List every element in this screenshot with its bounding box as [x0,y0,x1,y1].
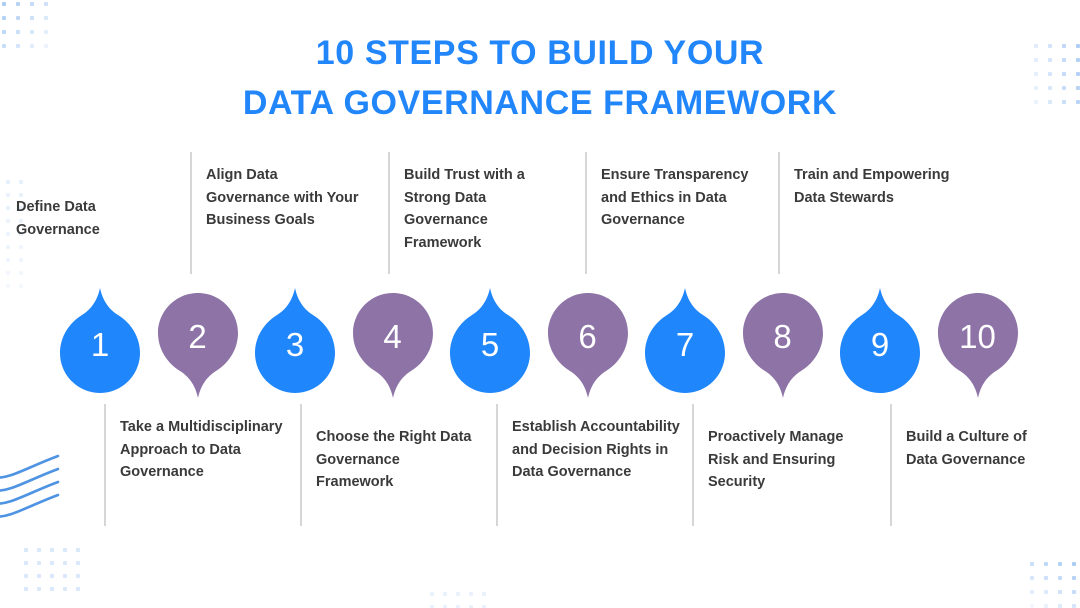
dot-grid-decoration-bottom-left [24,548,84,594]
step-label-1: Define Data Governance [16,196,166,241]
step-number-8: 8 [741,320,825,353]
step-label-6: Establish Accountability and Decision Ri… [496,416,681,484]
step-marker-4[interactable]: 4 [351,290,435,400]
step-label-8: Proactively Manage Risk and Ensuring Sec… [692,426,867,494]
step-label-5: Build Trust with a Strong Data Governanc… [388,164,563,254]
step-number-6: 6 [546,320,630,353]
infographic-canvas: 10 STEPS TO BUILD YOUR DATA GOVERNANCE F… [0,0,1080,608]
page-title: 10 STEPS TO BUILD YOUR DATA GOVERNANCE F… [0,28,1080,128]
step-number-5: 5 [448,328,532,361]
step-marker-10[interactable]: 10 [936,290,1020,400]
step-label-10: Build a Culture of Data Governance [890,426,1050,471]
step-marker-5[interactable]: 5 [448,286,532,396]
step-number-9: 9 [838,328,922,361]
step-marker-2[interactable]: 2 [156,290,240,400]
step-marker-9[interactable]: 9 [838,286,922,396]
step-marker-1[interactable]: 1 [58,286,142,396]
title-line-2: DATA GOVERNANCE FRAMEWORK [0,78,1080,128]
step-number-7: 7 [643,328,727,361]
step-label-7: Ensure Transparency and Ethics in Data G… [585,164,765,232]
step-marker-6[interactable]: 6 [546,290,630,400]
bottom-label-row: Take a Multidisciplinary Approach to Dat… [0,404,1080,530]
step-number-2: 2 [156,320,240,353]
step-marker-7[interactable]: 7 [643,286,727,396]
dot-grid-decoration-bottom-center [430,592,490,608]
step-marker-row: 12345678910 [0,286,1080,402]
title-line-1: 10 STEPS TO BUILD YOUR [0,28,1080,78]
step-number-3: 3 [253,328,337,361]
step-number-4: 4 [351,320,435,353]
step-label-9: Train and Empowering Data Stewards [778,164,963,209]
step-label-2: Take a Multidisciplinary Approach to Dat… [104,416,289,484]
step-marker-3[interactable]: 3 [253,286,337,396]
dot-grid-decoration-bottom-right [1030,562,1080,608]
step-label-3: Align Data Governance with Your Business… [190,164,365,232]
step-marker-8[interactable]: 8 [741,290,825,400]
step-number-10: 10 [936,320,1020,353]
step-number-1: 1 [58,328,142,361]
step-label-4: Choose the Right Data Governance Framewo… [300,426,475,494]
top-label-row: Define Data GovernanceAlign Data Governa… [0,152,1080,280]
